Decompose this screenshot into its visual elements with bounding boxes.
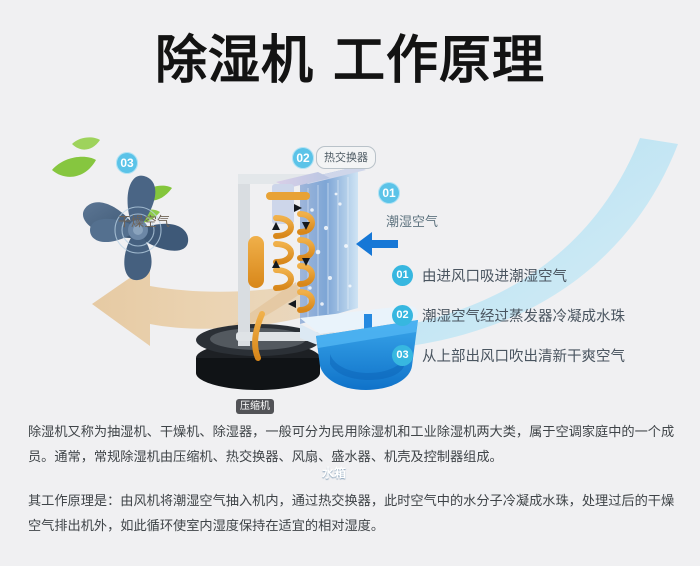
legend-badge-02: 02 [392,305,413,326]
diagram-label-dry-air: 干燥空气 [118,211,170,230]
legend-item-03: 03 从上部出风口吹出清新干爽空气 [392,335,692,375]
diagram-label-humid-air: 潮湿空气 [386,211,438,230]
legend-text-03: 从上部出风口吹出清新干爽空气 [422,345,625,366]
body-copy: 除湿机又称为抽湿机、干燥机、除湿器，一般可分为民用除湿机和工业除湿机两大类，属于… [28,420,676,539]
diagram-badge-01: 01 [378,182,400,204]
diagram-badge-03: 03 [116,152,138,174]
page-title-wrap: 除湿机 工作原理 [0,32,700,90]
diagram-callout-heat-exchanger: 热交换器 [316,146,376,169]
legend-badge-03: 03 [392,345,413,366]
legend-text-02: 潮湿空气经过蒸发器冷凝成水珠 [422,305,625,326]
diagram-badge-02: 02 [292,147,314,169]
body-paragraph-1: 除湿机又称为抽湿机、干燥机、除湿器，一般可分为民用除湿机和工业除湿机两大类，属于… [28,420,676,470]
legend-list: 01 由进风口吸进潮湿空气 02 潮湿空气经过蒸发器冷凝成水珠 03 从上部出风… [392,255,692,375]
legend-item-01: 01 由进风口吸进潮湿空气 [392,255,692,295]
body-paragraph-2: 其工作原理是：由风机将潮湿空气抽入机内，通过热交换器，此时空气中的水分子冷凝成水… [28,489,676,539]
page-root: 除湿机 工作原理 [0,0,700,566]
legend-text-01: 由进风口吸进潮湿空气 [422,265,567,286]
legend-badge-01: 01 [392,265,413,286]
diagram-tag-compressor: 压缩机 [236,399,274,414]
legend-item-02: 02 潮湿空气经过蒸发器冷凝成水珠 [392,295,692,335]
page-title: 除湿机 工作原理 [155,32,545,90]
